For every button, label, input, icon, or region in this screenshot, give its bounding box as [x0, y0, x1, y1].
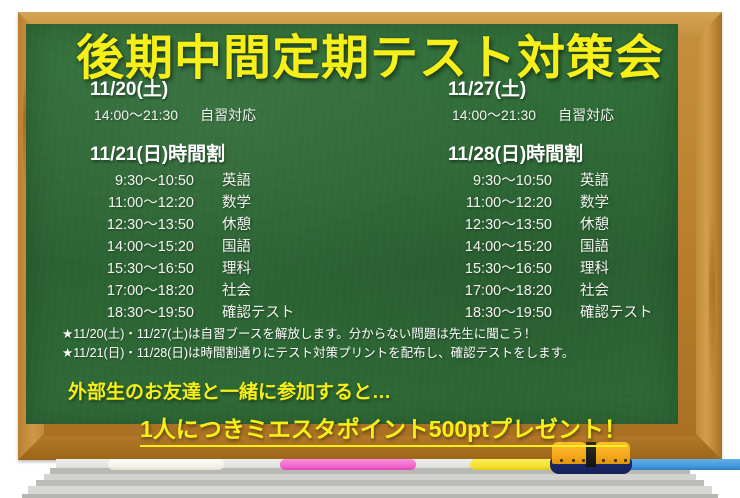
promo-block: 外部生のお友達と一緒に参加すると… 1人につきミエスタポイント500ptプレゼン…: [0, 377, 740, 447]
eraser-stud: [614, 459, 617, 462]
day-note: 自習対応: [200, 107, 256, 123]
row-subject: 社会: [552, 280, 609, 302]
row-subject: 理科: [194, 258, 251, 280]
chalk-tray: [0, 459, 740, 498]
row-time: 18:30〜19:50: [448, 302, 552, 324]
table-row: 15:30〜16:50 理科: [448, 258, 740, 280]
table-row: 18:30〜19:50 確認テスト: [90, 302, 370, 324]
table-row: 17:00〜18:20 社会: [448, 280, 740, 302]
table-row: 12:30〜13:50 休憩: [90, 214, 370, 236]
table-row: 11:00〜12:20 数学: [448, 192, 740, 214]
row-time: 12:30〜13:50: [448, 214, 552, 236]
row-subject: 英語: [552, 170, 609, 192]
schedule-column-right: 11/27(土) 14:00〜21:30自習対応 11/28(日)時間割 9:3…: [370, 78, 740, 324]
eraser-stud: [582, 459, 585, 462]
notes-block: ★11/20(土)・11/27(土)は自習ブースを解放します。分からない問題は先…: [62, 325, 574, 364]
day-note: 自習対応: [558, 107, 614, 123]
day-subline: 14:00〜21:30自習対応: [90, 105, 370, 125]
table-row: 15:30〜16:50 理科: [90, 258, 370, 280]
timetable-rows: 9:30〜10:50 英語 11:00〜12:20 数学 12:30〜13:50…: [90, 170, 370, 324]
day-time: 14:00〜21:30: [452, 107, 536, 123]
promo-headline: 外部生のお友達と一緒に参加すると…: [0, 377, 740, 404]
tray-step: [22, 494, 718, 498]
table-row: 9:30〜10:50 英語: [448, 170, 740, 192]
promo-offer: 1人につきミエスタポイント500ptプレゼント！: [0, 410, 740, 447]
schedule-column-left: 11/20(土) 14:00〜21:30自習対応 11/21(日)時間割 9:3…: [0, 78, 370, 324]
row-subject: 国語: [552, 236, 609, 258]
eraser-stud: [560, 459, 563, 462]
row-subject: 国語: [194, 236, 251, 258]
table-row: 18:30〜19:50 確認テスト: [448, 302, 740, 324]
timetable-heading: 11/28(日)時間割: [448, 139, 740, 166]
row-time: 15:30〜16:50: [448, 258, 552, 280]
table-row: 14:00〜15:20 国語: [448, 236, 740, 258]
chalk-pieces: [0, 465, 740, 477]
row-time: 17:00〜18:20: [90, 280, 194, 302]
promo-offer-text: 1人につきミエスタポイント500ptプレゼント！: [140, 410, 627, 447]
row-subject: 休憩: [552, 214, 609, 236]
note-line: ★11/20(土)・11/27(土)は自習ブースを解放します。分からない問題は先…: [62, 325, 574, 344]
day-heading: 11/20(土): [90, 78, 370, 102]
table-row: 11:00〜12:20 数学: [90, 192, 370, 214]
day-subline: 14:00〜21:30自習対応: [448, 105, 740, 125]
row-time: 9:30〜10:50: [448, 170, 552, 192]
schedule-columns: 11/20(土) 14:00〜21:30自習対応 11/21(日)時間割 9:3…: [0, 78, 740, 324]
row-subject: 数学: [552, 192, 609, 214]
day-heading: 11/27(土): [448, 78, 740, 102]
row-time: 11:00〜12:20: [90, 192, 194, 214]
eraser-stud: [602, 459, 605, 462]
eraser-stud: [572, 459, 575, 462]
eraser-stud: [624, 459, 627, 462]
timetable-rows: 9:30〜10:50 英語 11:00〜12:20 数学 12:30〜13:50…: [448, 170, 740, 324]
row-time: 12:30〜13:50: [90, 214, 194, 236]
row-subject: 確認テスト: [194, 302, 295, 324]
row-time: 14:00〜15:20: [448, 236, 552, 258]
row-time: 9:30〜10:50: [90, 170, 194, 192]
row-time: 17:00〜18:20: [448, 280, 552, 302]
row-subject: 理科: [552, 258, 609, 280]
row-time: 14:00〜15:20: [90, 236, 194, 258]
tray-step: [28, 486, 712, 494]
row-subject: 数学: [194, 192, 251, 214]
row-subject: 社会: [194, 280, 251, 302]
timetable-heading: 11/21(日)時間割: [90, 139, 370, 166]
row-time: 18:30〜19:50: [90, 302, 194, 324]
row-subject: 英語: [194, 170, 251, 192]
row-subject: 確認テスト: [552, 302, 653, 324]
blackboard-poster: 後期中間定期テスト対策会 11/20(土) 14:00〜21:30自習対応 11…: [0, 0, 740, 498]
table-row: 14:00〜15:20 国語: [90, 236, 370, 258]
day-time: 14:00〜21:30: [94, 107, 178, 123]
row-subject: 休憩: [194, 214, 251, 236]
white-chalk[interactable]: [108, 459, 224, 470]
table-row: 12:30〜13:50 休憩: [448, 214, 740, 236]
row-time: 11:00〜12:20: [448, 192, 552, 214]
row-time: 15:30〜16:50: [90, 258, 194, 280]
table-row: 17:00〜18:20 社会: [90, 280, 370, 302]
pink-chalk[interactable]: [280, 459, 416, 470]
table-row: 9:30〜10:50 英語: [90, 170, 370, 192]
note-line: ★11/21(日)・11/28(日)は時間割通りにテスト対策プリントを配布し、確…: [62, 344, 574, 363]
